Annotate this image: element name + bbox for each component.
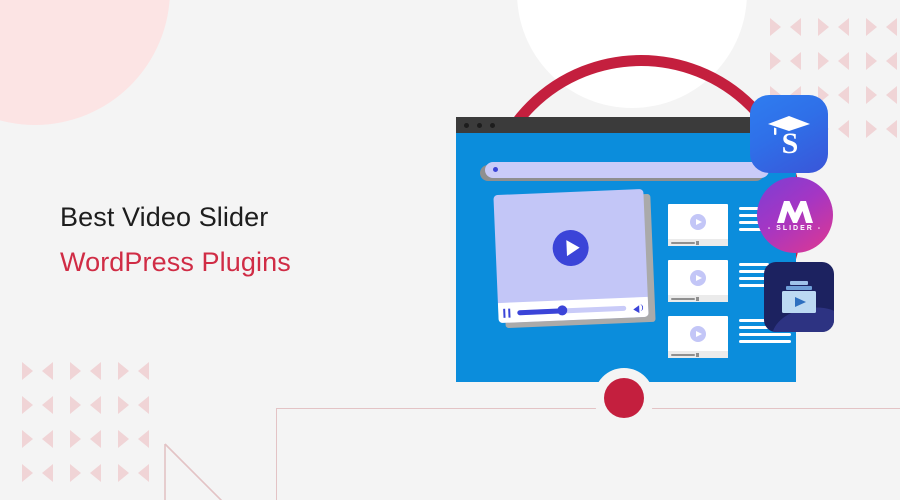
illustration: S - SLIDER - — [420, 0, 900, 500]
triangle-left-icon — [138, 362, 149, 380]
triangle-left-icon — [42, 362, 53, 380]
triangle-right-icon — [118, 362, 129, 380]
triangle-right-icon — [70, 396, 81, 414]
triangle-pair — [70, 396, 101, 414]
thumbnail-progress-bar — [668, 295, 728, 302]
triangle-pair — [70, 362, 101, 380]
triangle-pair — [118, 430, 149, 448]
smart-slider-badge[interactable]: S — [750, 95, 828, 173]
volume-icon[interactable] — [633, 303, 643, 312]
headline-block: Best Video Slider WordPress Plugins — [60, 203, 460, 277]
thumbnail-play-icon[interactable] — [690, 270, 706, 286]
window-dot-icon — [490, 123, 495, 128]
triangle-right-icon — [118, 430, 129, 448]
svg-text:S: S — [782, 127, 799, 158]
headline-line-1: Best Video Slider — [60, 203, 460, 231]
video-thumbnail[interactable] — [668, 260, 728, 302]
triangle-right-icon — [22, 362, 33, 380]
triangle-pattern-bottom-left — [22, 362, 149, 482]
triangle-right-icon — [118, 396, 129, 414]
search-bar-dot-icon — [493, 167, 498, 172]
master-slider-caption: - SLIDER - — [768, 225, 822, 232]
triangle-left-icon — [42, 464, 53, 482]
thumbnail-play-icon[interactable] — [690, 214, 706, 230]
triangle-row — [22, 362, 149, 380]
thumbnail-progress-bar — [668, 239, 728, 246]
banner-canvas: Best Video Slider WordPress Plugins — [0, 0, 900, 500]
triangle-pair — [22, 362, 53, 380]
play-triangle-icon — [566, 240, 580, 257]
triangle-right-icon — [22, 396, 33, 414]
progress-fill — [517, 308, 561, 315]
ring-dot — [604, 378, 644, 418]
video-thumbnail[interactable] — [668, 204, 728, 246]
triangle-pair — [70, 430, 101, 448]
graduation-cap-s-icon: S — [765, 110, 813, 158]
master-slider-m-icon — [775, 199, 815, 223]
triangle-row — [22, 464, 149, 482]
text-line — [739, 340, 791, 343]
pause-icon[interactable] — [503, 308, 510, 317]
triangle-right-icon — [70, 362, 81, 380]
text-line — [739, 333, 791, 336]
triangle-right-icon — [70, 464, 81, 482]
triangle-pair — [70, 464, 101, 482]
slider-revolution-badge[interactable] — [764, 262, 834, 332]
triangle-right-icon — [70, 430, 81, 448]
triangle-row — [22, 430, 149, 448]
progress-handle[interactable] — [557, 305, 567, 315]
decor-vertical-line — [276, 408, 277, 500]
triangle-left-icon — [42, 396, 53, 414]
triangle-left-icon — [90, 362, 101, 380]
decor-triangle-outline — [164, 443, 224, 500]
triangle-left-icon — [42, 430, 53, 448]
triangle-left-icon — [138, 396, 149, 414]
triangle-pair — [118, 396, 149, 414]
triangle-left-icon — [90, 464, 101, 482]
triangle-right-icon — [118, 464, 129, 482]
window-dot-icon — [477, 123, 482, 128]
video-thumbnail[interactable] — [668, 316, 728, 358]
master-slider-badge[interactable]: - SLIDER - — [757, 177, 833, 253]
browser-titlebar — [456, 117, 796, 133]
headline-line-2: WordPress Plugins — [60, 248, 460, 276]
thumbnail-progress-bar — [668, 351, 728, 358]
triangle-pair — [22, 430, 53, 448]
triangle-right-icon — [22, 430, 33, 448]
triangle-pair — [118, 362, 149, 380]
triangle-left-icon — [90, 430, 101, 448]
triangle-right-icon — [22, 464, 33, 482]
triangle-left-icon — [138, 464, 149, 482]
window-dot-icon — [464, 123, 469, 128]
play-button[interactable] — [552, 230, 589, 267]
triangle-pair — [118, 464, 149, 482]
triangle-pair — [22, 396, 53, 414]
video-player-card[interactable] — [493, 189, 648, 323]
text-line — [739, 263, 769, 266]
search-bar[interactable] — [485, 162, 769, 178]
browser-window-mockup — [456, 117, 796, 382]
triangle-row — [22, 396, 149, 414]
slides-play-icon — [777, 277, 821, 317]
triangle-left-icon — [138, 430, 149, 448]
triangle-left-icon — [90, 396, 101, 414]
progress-track[interactable] — [517, 305, 626, 315]
thumbnail-play-icon[interactable] — [690, 326, 706, 342]
triangle-pair — [22, 464, 53, 482]
pink-blob-decoration — [0, 0, 170, 125]
